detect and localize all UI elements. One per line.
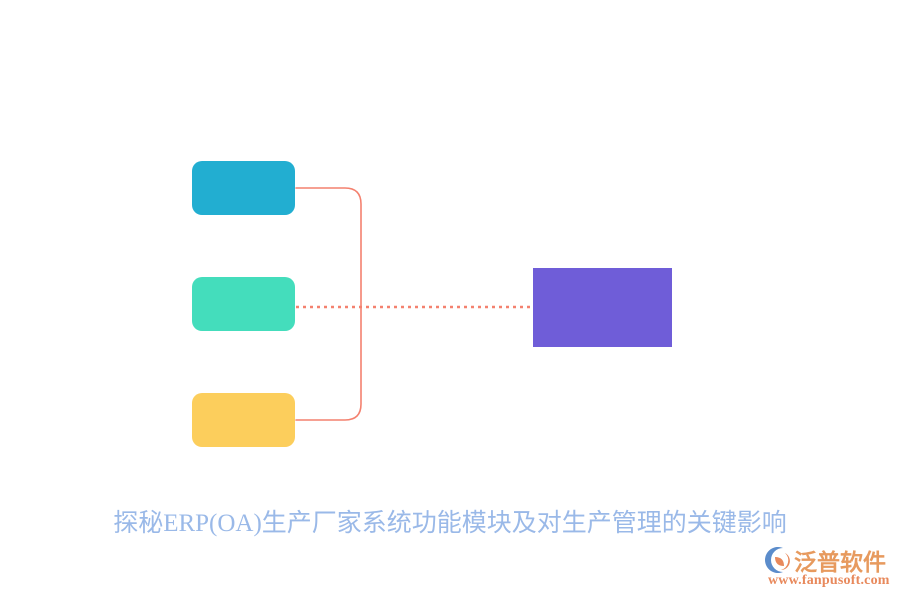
- connector-trunk-path: [296, 188, 361, 420]
- watermark-logo: 泛普软件 www.fanpusoft.com: [762, 543, 896, 593]
- page-title: 探秘ERP(OA)生产厂家系统功能模块及对生产管理的关键影响: [0, 503, 900, 539]
- green-node[interactable]: [192, 277, 295, 331]
- fanpu-logo-icon: [762, 545, 792, 575]
- purple-node[interactable]: [533, 268, 672, 347]
- blue-node[interactable]: [192, 161, 295, 215]
- brand-url: www.fanpusoft.com: [768, 573, 890, 589]
- yellow-node[interactable]: [192, 393, 295, 447]
- brand-name: 泛普软件: [794, 543, 886, 577]
- diagram-canvas: 探秘ERP(OA)生产厂家系统功能模块及对生产管理的关键影响 泛普软件 www.…: [0, 0, 900, 600]
